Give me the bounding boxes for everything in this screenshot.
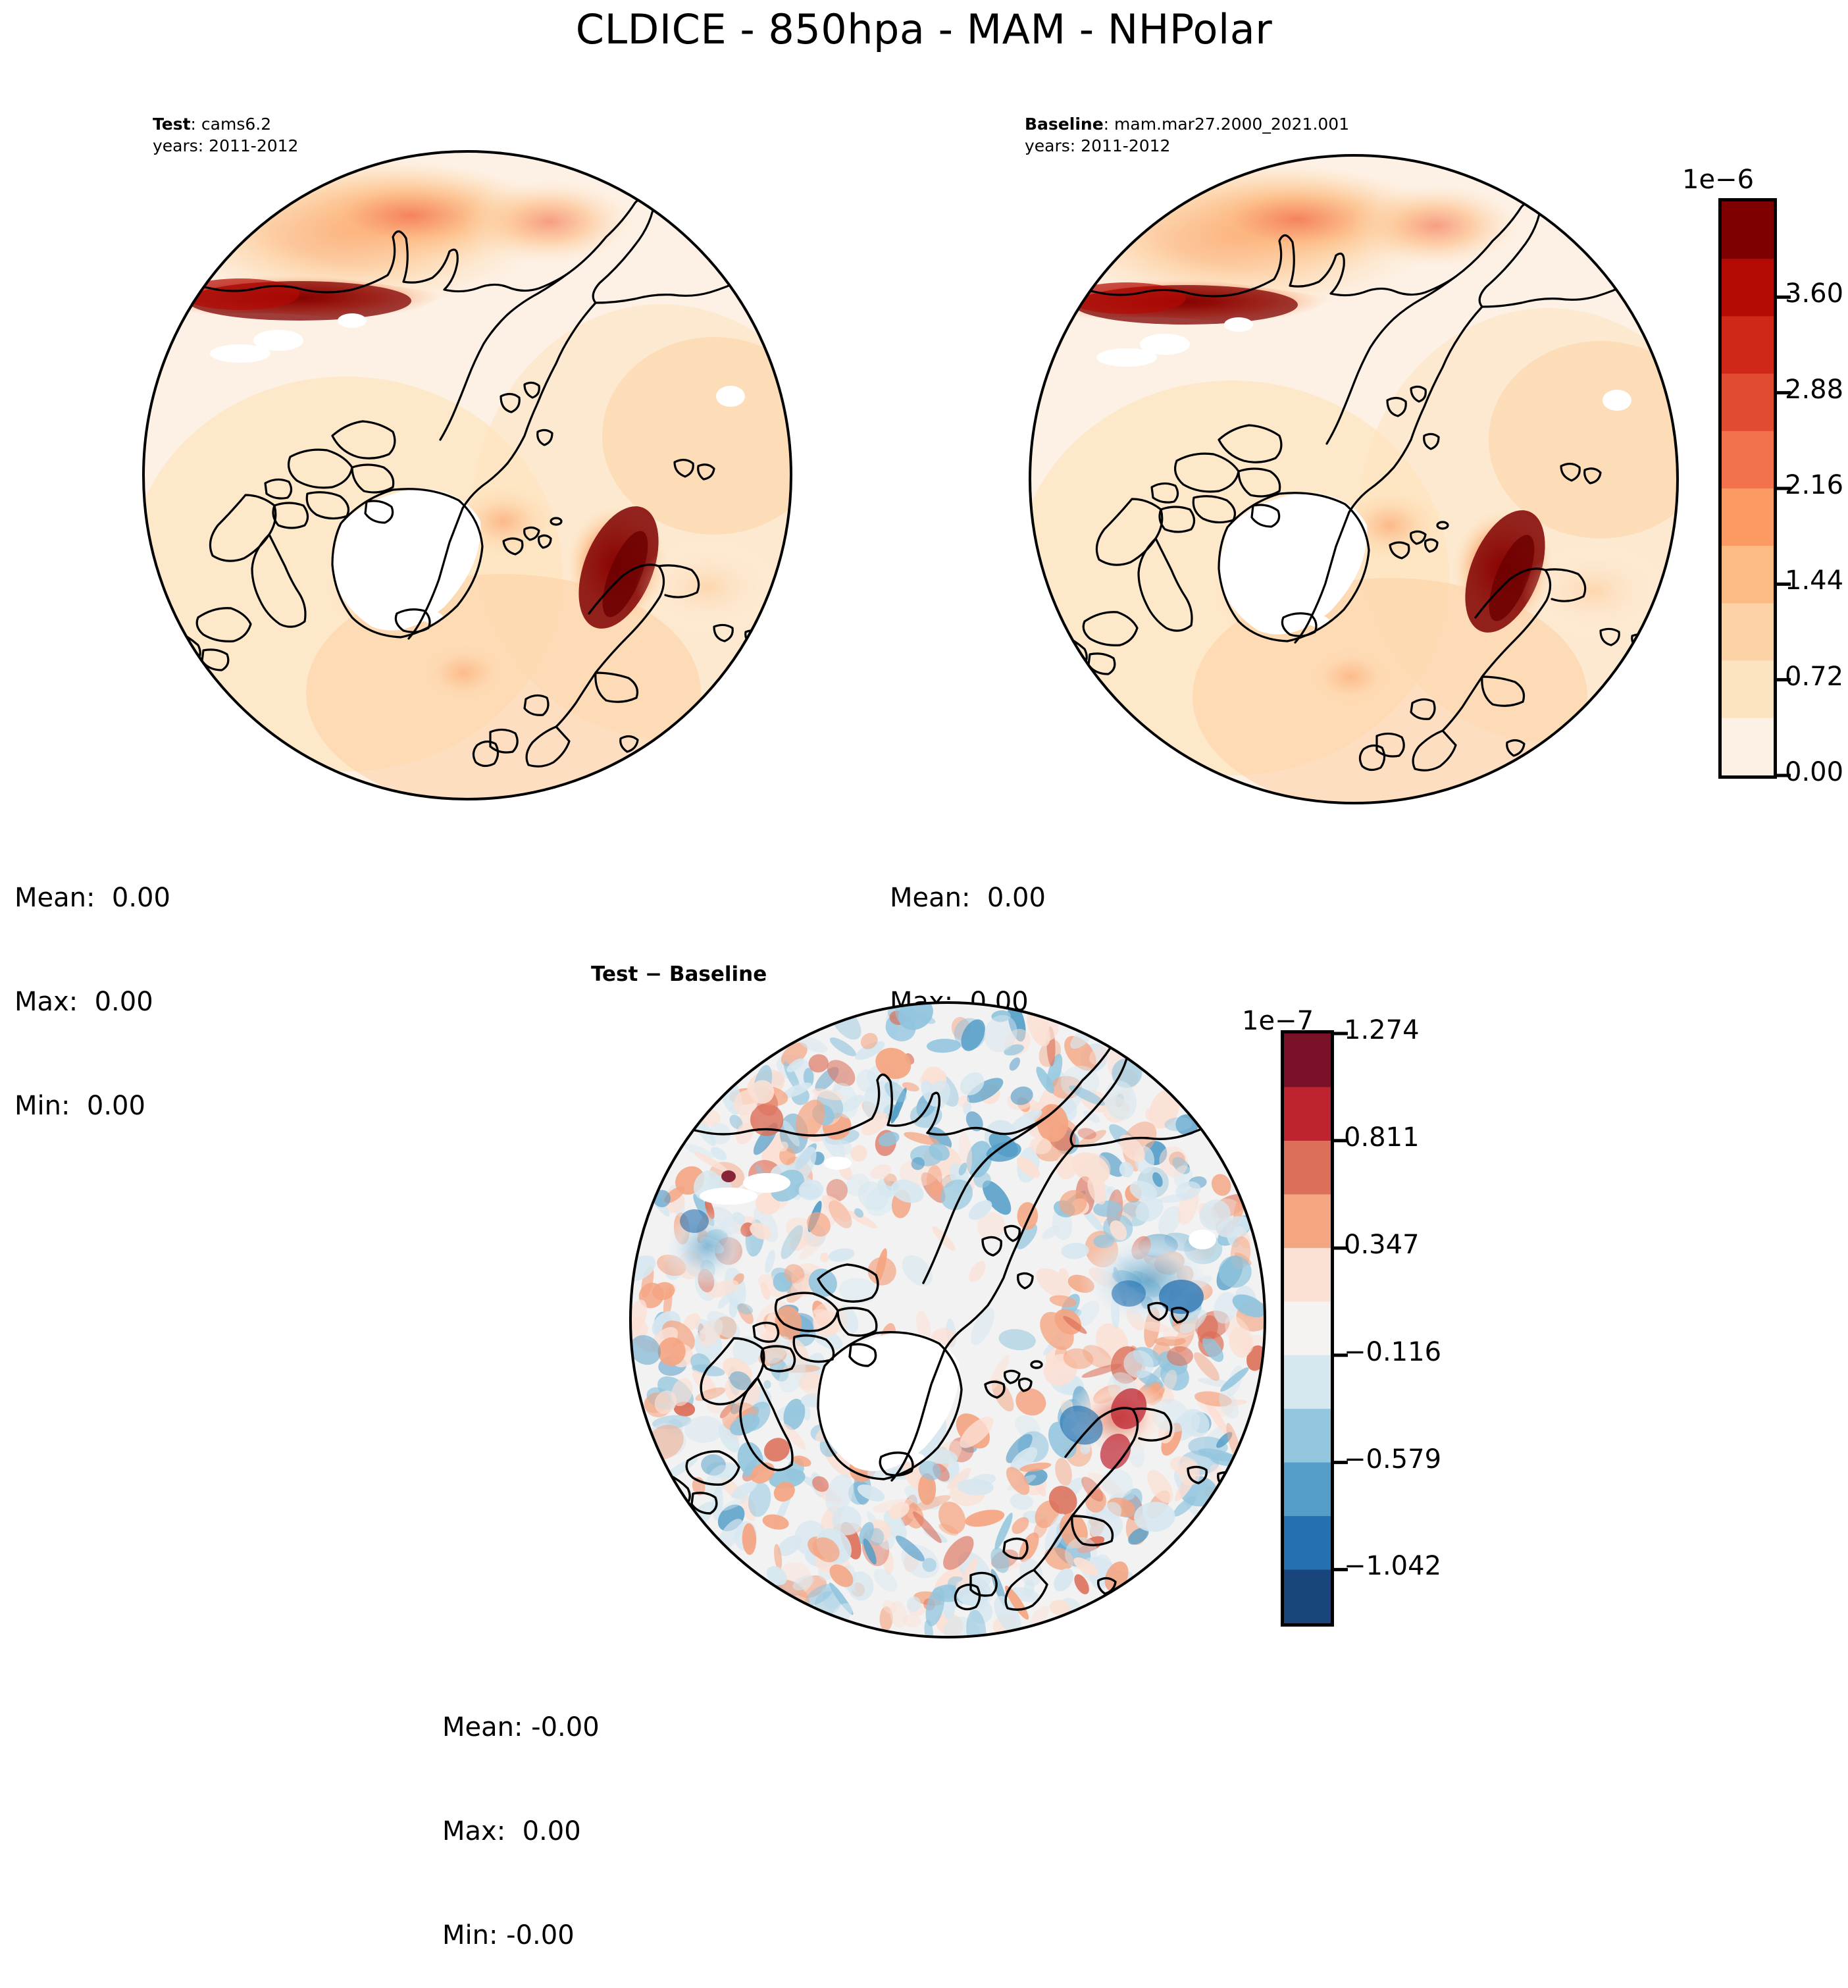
difference-stat-max: Max: 0.00 — [442, 1814, 600, 1849]
page-title: CLDICE - 850hpa - MAM - NHPolar — [0, 5, 1848, 53]
colorbar-tick-label: −0.579 — [1344, 1444, 1441, 1475]
test-label: Test — [153, 115, 191, 134]
test-stat-min: Min: 0.00 — [14, 1089, 170, 1124]
colorbar-band — [1284, 1409, 1331, 1463]
colorbar-band — [1284, 1355, 1331, 1409]
colorbar-tick-label: −1.042 — [1344, 1551, 1441, 1581]
baseline-map — [1021, 157, 1689, 815]
colorbar-tick-label: 0.00 — [1785, 757, 1843, 787]
colorbar-band — [1284, 1087, 1331, 1141]
baseline-years: years: 2011-2012 — [1025, 135, 1349, 157]
colorbar-tick-label: 0.811 — [1344, 1122, 1420, 1153]
difference-stat-mean: Mean: -0.00 — [442, 1710, 600, 1745]
test-field — [128, 153, 852, 811]
main-colorbar-exponent: 1e−6 — [1682, 165, 1754, 195]
colorbar-tick-label: 1.44 — [1785, 565, 1843, 596]
colorbar-band — [1722, 259, 1774, 317]
colorbar-tick-label: 0.347 — [1344, 1230, 1420, 1260]
colorbar-band — [1722, 603, 1774, 661]
colorbar-band — [1722, 718, 1774, 776]
diff-colorbar-bands — [1284, 1033, 1331, 1624]
colorbar-band — [1284, 1301, 1331, 1355]
colorbar-band — [1284, 1516, 1331, 1570]
colorbar-band — [1722, 374, 1774, 432]
difference-stat-min: Min: -0.00 — [442, 1918, 600, 1953]
colorbar-band — [1722, 488, 1774, 546]
difference-map — [629, 997, 1273, 1649]
colorbar-band — [1284, 1141, 1331, 1195]
baseline-label: Baseline — [1025, 115, 1104, 134]
test-stats: Mean: 0.00 Max: 0.00 Min: 0.00 — [14, 811, 170, 1159]
colorbar-band — [1722, 431, 1774, 489]
main-colorbar-bands — [1722, 201, 1774, 776]
colorbar-band — [1284, 1194, 1331, 1248]
colorbar-tick-label: −0.116 — [1344, 1337, 1441, 1367]
test-panel-caption: Test: cams6.2 years: 2011-2012 — [153, 113, 298, 157]
difference-panel-title: Test − Baseline — [591, 962, 767, 986]
test-dataset: : cams6.2 — [191, 115, 272, 134]
colorbar-band — [1722, 546, 1774, 604]
colorbar-band — [1284, 1463, 1331, 1517]
colorbar-tick-label: 1.274 — [1344, 1015, 1420, 1045]
colorbar-tick-label: 2.16 — [1785, 470, 1843, 500]
baseline-field — [1015, 157, 1739, 815]
test-stat-mean: Mean: 0.00 — [14, 881, 170, 916]
baseline-panel-caption: Baseline: mam.mar27.2000_2021.001 years:… — [1025, 113, 1349, 157]
colorbar-band — [1284, 1033, 1331, 1087]
colorbar-tick-label: 0.72 — [1785, 662, 1843, 692]
baseline-dataset: : mam.mar27.2000_2021.001 — [1104, 115, 1349, 134]
difference-field — [617, 991, 1273, 1652]
difference-stats: Mean: -0.00 Max: 0.00 Min: -0.00 — [442, 1640, 600, 1988]
colorbar-band — [1722, 316, 1774, 374]
colorbar-band — [1722, 201, 1774, 259]
colorbar-band — [1284, 1570, 1331, 1624]
colorbar-band — [1722, 661, 1774, 719]
test-map — [135, 153, 803, 811]
baseline-stat-mean: Mean: 0.00 — [890, 881, 1046, 916]
colorbar-band — [1284, 1248, 1331, 1302]
colorbar-tick-label: 3.60 — [1785, 278, 1843, 309]
colorbar-tick-label: 2.88 — [1785, 375, 1843, 405]
test-stat-max: Max: 0.00 — [14, 985, 170, 1020]
